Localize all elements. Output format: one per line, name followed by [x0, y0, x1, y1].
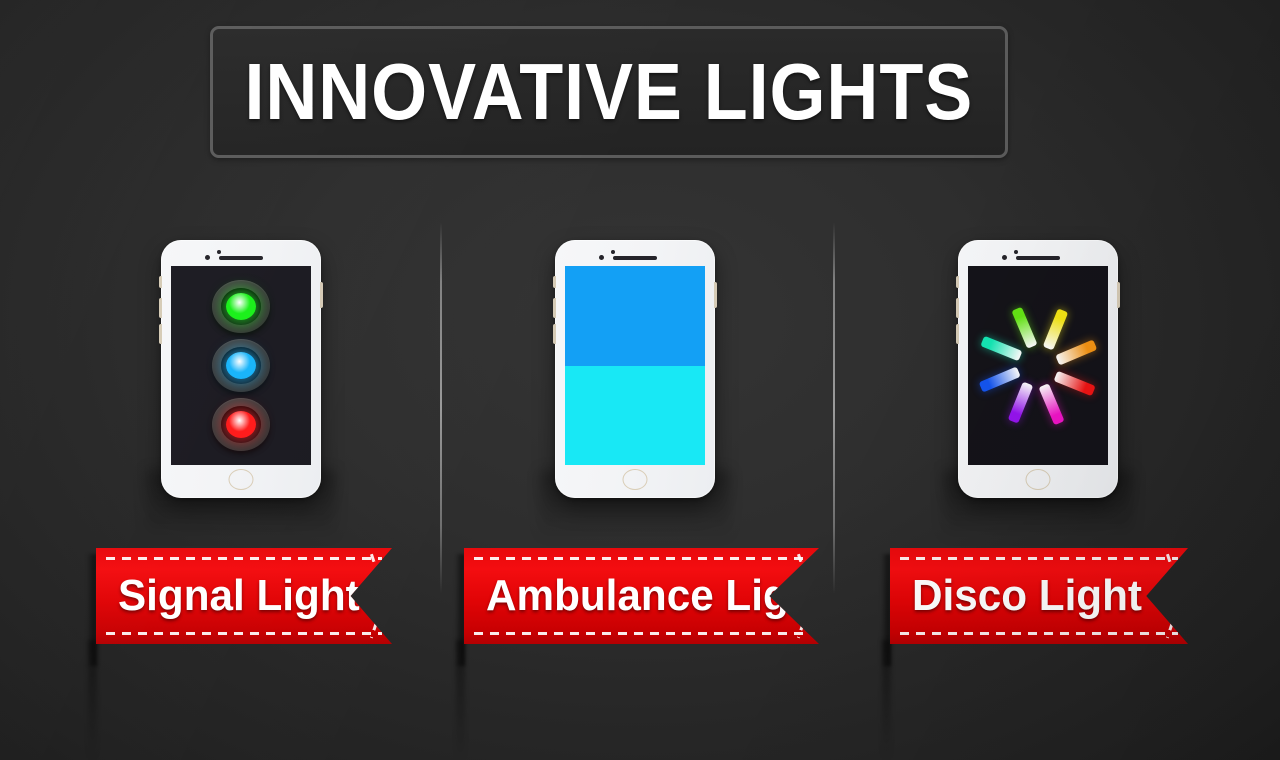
- ribbon-stitch-top: [474, 557, 809, 560]
- card-label-signal-light: Signal Light: [118, 574, 360, 618]
- power-button-icon: [1117, 282, 1120, 308]
- ribbon-signal-light[interactable]: Signal Light: [96, 548, 392, 644]
- card-disco-light[interactable]: Disco Light: [828, 0, 1248, 760]
- ribbon-stitch-notch-upper: [370, 554, 387, 599]
- ambulance-upper-band[interactable]: [565, 266, 705, 366]
- volume-down-button-icon: [159, 324, 162, 344]
- ribbon-stitch-bottom: [106, 632, 382, 635]
- phone-screen-ambulance: [565, 266, 705, 465]
- ribbon-stitch-top: [106, 557, 382, 560]
- ribbon-tail-shadow: [456, 640, 465, 760]
- red-light-icon: [226, 411, 256, 438]
- ribbon-stitch-top: [900, 557, 1178, 560]
- signal-lamp-green[interactable]: [212, 280, 270, 333]
- card-label-ambulance-light: Ambulance Light: [486, 574, 829, 618]
- ribbon-tail-shadow: [88, 640, 97, 760]
- proximity-sensor-icon: [1014, 250, 1018, 254]
- ribbon-body[interactable]: Signal Light: [96, 548, 392, 644]
- ribbon-tail-shadow: [882, 640, 891, 760]
- card-label-disco-light: Disco Light: [912, 574, 1142, 618]
- phone-mockup-ambulance: [555, 240, 715, 498]
- promo-banner: INNOVATIVE LIGHTS: [0, 0, 1280, 760]
- front-camera-icon: [205, 255, 210, 260]
- silence-switch-icon: [956, 276, 959, 288]
- signal-lamp-red[interactable]: [212, 398, 270, 451]
- earpiece-speaker-icon: [1016, 256, 1060, 260]
- ribbon-ambulance-light[interactable]: Ambulance Light: [464, 548, 819, 644]
- ribbon-body[interactable]: Ambulance Light: [464, 548, 819, 644]
- ribbon-disco-light[interactable]: Disco Light: [890, 548, 1188, 644]
- signal-lamp-blue[interactable]: [212, 339, 270, 392]
- phone-mockup-disco: [958, 240, 1118, 498]
- card-ambulance-light[interactable]: Ambulance Light: [428, 0, 848, 760]
- ribbon-stitch-notch-upper: [1166, 554, 1183, 599]
- silence-switch-icon: [553, 276, 556, 288]
- ambulance-light-app: [565, 266, 705, 465]
- ribbon-stitch-bottom: [900, 632, 1178, 635]
- ambulance-lower-band[interactable]: [565, 366, 705, 466]
- blue-light-icon: [226, 352, 256, 379]
- home-button-icon[interactable]: [229, 469, 254, 490]
- proximity-sensor-icon: [611, 250, 615, 254]
- phone-screen-signal: [171, 266, 311, 465]
- earpiece-speaker-icon: [613, 256, 657, 260]
- home-button-icon[interactable]: [623, 469, 648, 490]
- disco-light-app: [968, 266, 1108, 465]
- card-signal-light[interactable]: Signal Light: [32, 0, 452, 760]
- front-camera-icon: [599, 255, 604, 260]
- silence-switch-icon: [159, 276, 162, 288]
- volume-up-button-icon: [553, 298, 556, 318]
- front-camera-icon: [1002, 255, 1007, 260]
- power-button-icon: [320, 282, 323, 308]
- power-button-icon: [714, 282, 717, 308]
- phone-mockup-signal: [161, 240, 321, 498]
- volume-down-button-icon: [553, 324, 556, 344]
- ribbon-stitch-bottom: [474, 632, 809, 635]
- ribbon-stitch-notch-upper: [797, 554, 814, 599]
- home-button-icon[interactable]: [1026, 469, 1051, 490]
- volume-up-button-icon: [956, 298, 959, 318]
- green-light-icon: [226, 293, 256, 320]
- proximity-sensor-icon: [217, 250, 221, 254]
- volume-up-button-icon: [159, 298, 162, 318]
- ribbon-body[interactable]: Disco Light: [890, 548, 1188, 644]
- earpiece-speaker-icon: [219, 256, 263, 260]
- signal-light-app: [171, 266, 311, 465]
- phone-screen-disco: [968, 266, 1108, 465]
- volume-down-button-icon: [956, 324, 959, 344]
